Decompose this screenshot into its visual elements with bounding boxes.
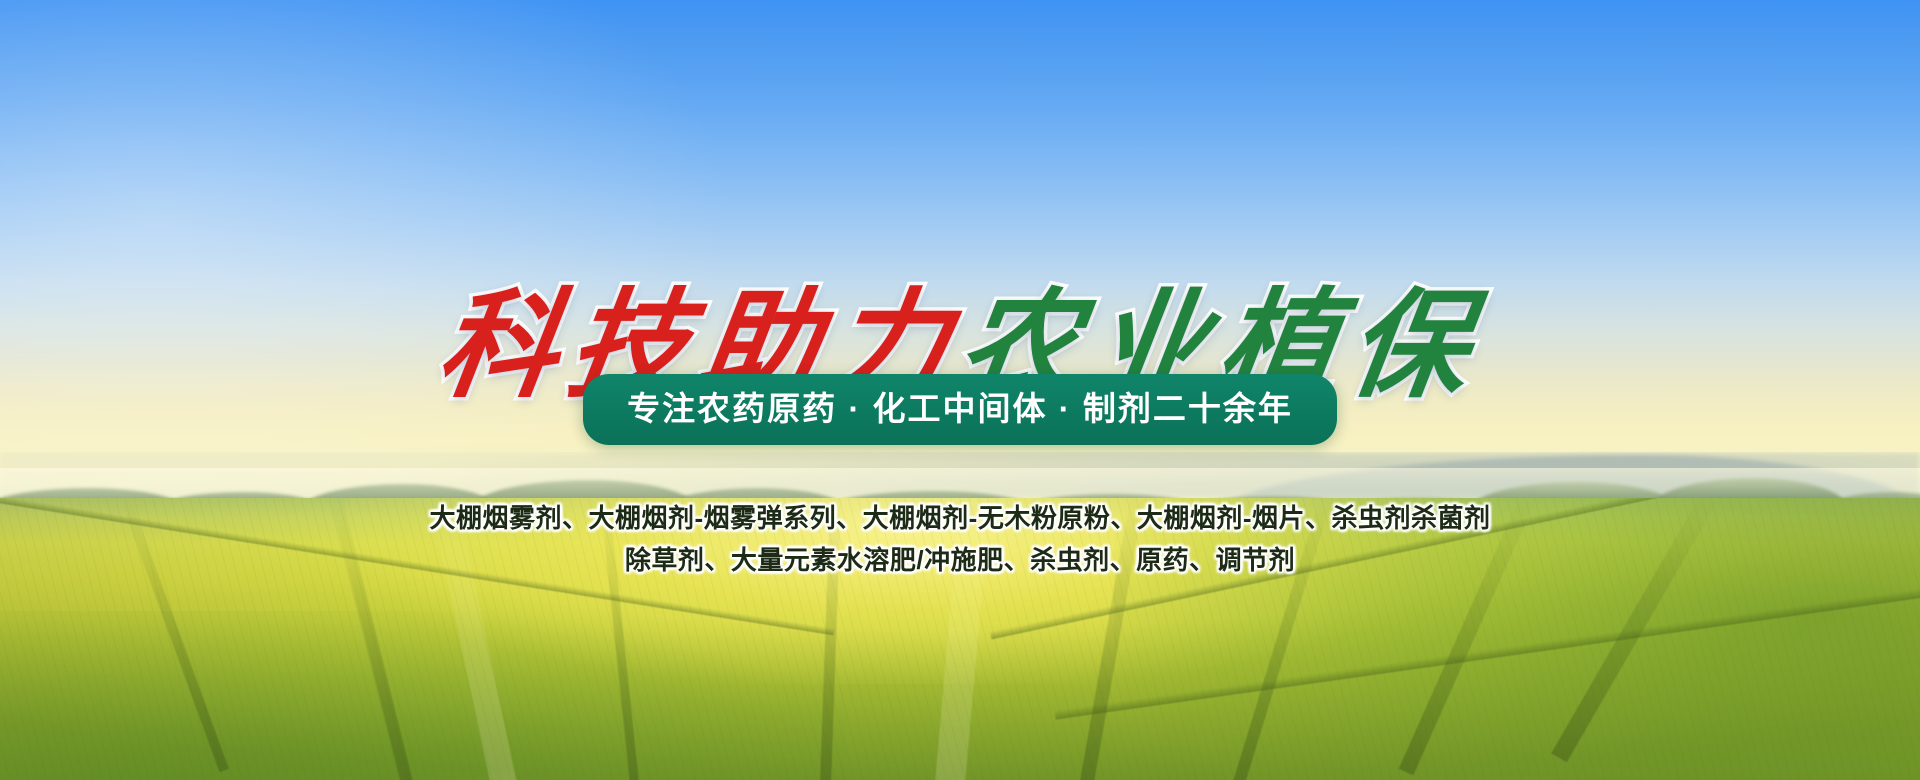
hero-banner: 科技助力农业植保 专注农药原药 · 化工中间体 · 制剂二十余年 大棚烟雾剂、大…	[0, 0, 1920, 780]
description-line-2: 除草剂、大量元素水溶肥/冲施肥、杀虫剂、原药、调节剂	[0, 539, 1920, 581]
tagline-container: 专注农药原药 · 化工中间体 · 制剂二十余年	[0, 374, 1920, 445]
description-line-1: 大棚烟雾剂、大棚烟剂-烟雾弹系列、大棚烟剂-无木粉原粉、大棚烟剂-烟片、杀虫剂杀…	[0, 497, 1920, 539]
banner-content: 科技助力农业植保 专注农药原药 · 化工中间体 · 制剂二十余年 大棚烟雾剂、大…	[0, 0, 1920, 780]
tagline-badge: 专注农药原药 · 化工中间体 · 制剂二十余年	[583, 374, 1337, 445]
product-description: 大棚烟雾剂、大棚烟剂-烟雾弹系列、大棚烟剂-无木粉原粉、大棚烟剂-烟片、杀虫剂杀…	[0, 497, 1920, 581]
